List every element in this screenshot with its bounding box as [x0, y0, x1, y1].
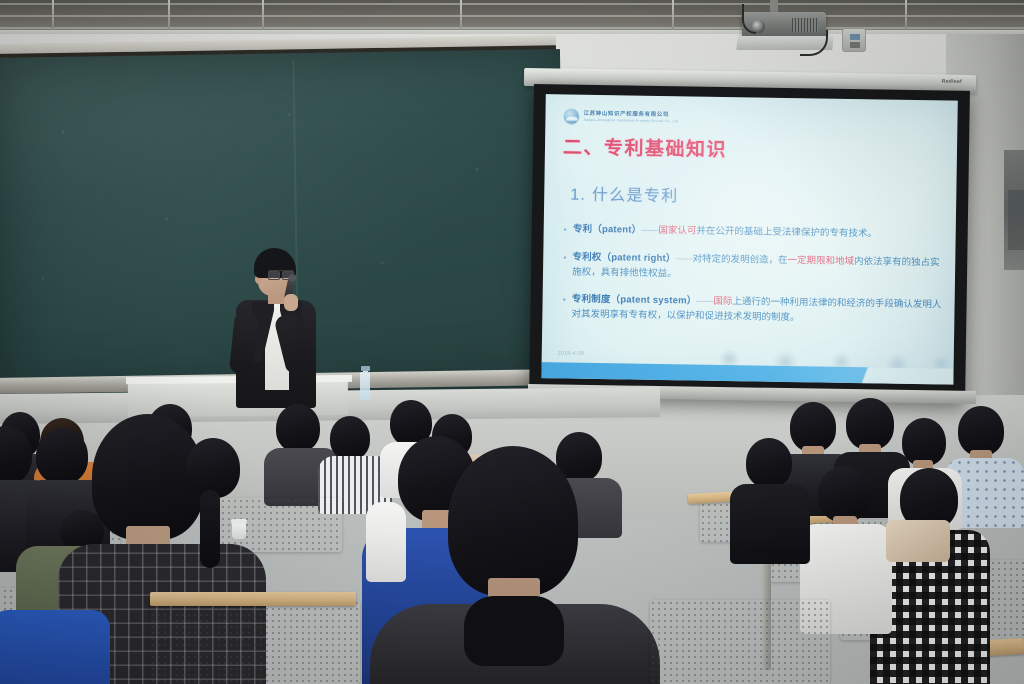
presentation-slide: 江苏钟山知识产权服务有限公司 Jiangsu Zhongshan Intelle…: [541, 94, 957, 384]
mountain-logo-icon: [563, 108, 579, 124]
slide-bullet: • 专利权（patent right）——对特定的发明创造，在一定期限和地域内依…: [563, 250, 943, 285]
presenter: [222, 248, 332, 408]
student-head: [958, 406, 1004, 456]
bullet-highlight: 一定期限和地域: [788, 255, 855, 267]
student-head: [186, 438, 240, 498]
bullet-term: 专利权（patent right）: [572, 252, 675, 265]
wall-recess-inner: [1008, 190, 1024, 250]
lecture-hall-photo: Redleaf 江苏钟山知识产权服务有限公司 Jiangsu Zhongshan…: [0, 0, 1024, 684]
slide-title: 二、专利基础知识: [563, 132, 727, 162]
seat-back: [150, 600, 360, 684]
student-head: [276, 404, 320, 452]
audience-shadow-on-screen: [698, 325, 954, 369]
bullet-dot-icon: •: [563, 251, 567, 279]
slide-date: 2018-4-28: [558, 350, 584, 356]
slide-bullet-list: • 专利（patent）——国家认可并在公开的基础上受法律保护的专有技术。 • …: [562, 222, 944, 341]
bullet-term: 专利制度（patent system）: [572, 294, 697, 307]
bullet-dash: ——: [675, 253, 692, 264]
student-head: [448, 446, 578, 596]
company-logo: 江苏钟山知识产权服务有限公司 Jiangsu Zhongshan Intelle…: [563, 108, 679, 126]
bullet-body-pre: 对特定的发明创造，在: [692, 253, 787, 265]
bullet-dot-icon: •: [564, 223, 567, 237]
water-bottle: [360, 372, 370, 400]
student-ponytail: [200, 490, 220, 568]
bullet-highlight: 国际: [713, 296, 732, 307]
student-head: [790, 402, 836, 452]
logo-company-name-en: Jiangsu Zhongshan Intellectual Property …: [583, 118, 679, 124]
bullet-dash: ——: [696, 296, 713, 307]
student-head: [846, 398, 894, 450]
student-head: [36, 428, 88, 484]
bullet-body-post: 并在公开的基础上受法律保护的专有技术。: [696, 226, 877, 240]
student-head: [902, 418, 946, 466]
student-head: [746, 438, 792, 488]
tote-bag: [886, 520, 950, 562]
slide-subtitle: 1. 什么是专利: [570, 181, 679, 207]
projection-screen: 江苏钟山知识产权服务有限公司 Jiangsu Zhongshan Intelle…: [529, 84, 970, 403]
bullet-highlight: 国家认可: [658, 225, 696, 237]
water-bottle-cap: [361, 366, 370, 371]
bullet-dash: ——: [641, 225, 658, 236]
desk-surface: [150, 592, 356, 606]
slide-bullet: • 专利（patent）——国家认可并在公开的基础上受法律保护的专有技术。: [564, 222, 944, 243]
student-top: [366, 502, 406, 582]
slide-bullet: • 专利制度（patent system）——国际上通行的一种利用法律的和经济的…: [562, 293, 942, 328]
bullet-term: 专利（patent）: [573, 224, 642, 236]
student-top: [730, 484, 810, 564]
ceiling: [0, 0, 1024, 34]
student-head: [818, 466, 870, 522]
screen-brand-label: Redleaf: [942, 79, 962, 85]
student-head: [330, 416, 370, 460]
seat-back: [650, 600, 830, 684]
bullet-dot-icon: •: [562, 294, 566, 322]
student-collar: [464, 596, 564, 666]
student-top: [0, 610, 110, 684]
paper-cup: [232, 522, 246, 539]
presenter-hand: [284, 294, 298, 311]
wall-data-plate: [842, 28, 866, 52]
